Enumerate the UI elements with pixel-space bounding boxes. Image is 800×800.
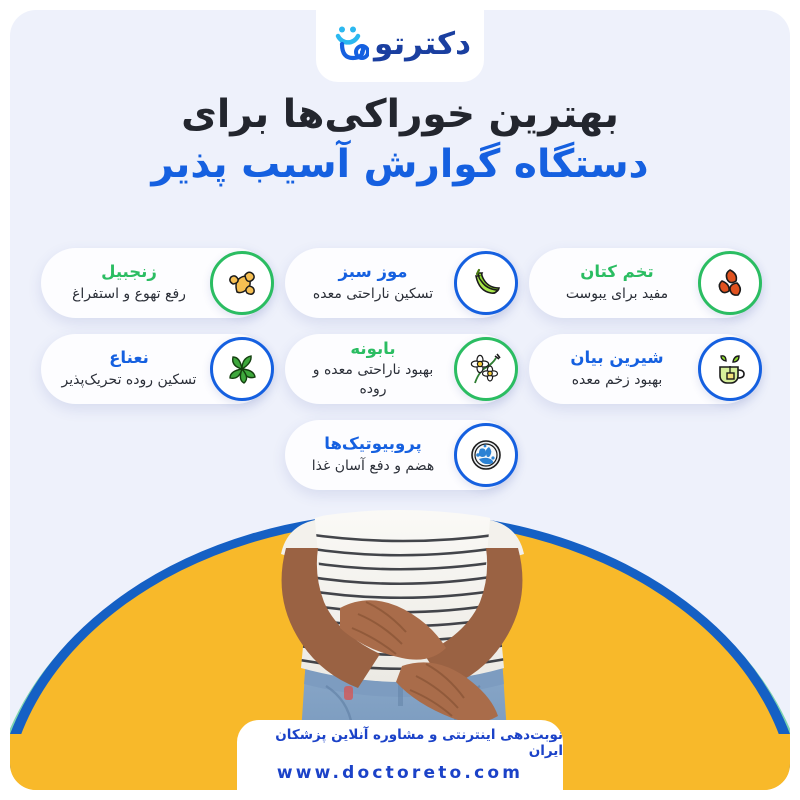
card-ginger[interactable]: زنجبیل رفع تهوع و استفراغ <box>41 248 271 318</box>
card-title: شیرین بیان <box>543 348 691 369</box>
chamomile-flower-icon <box>454 337 518 401</box>
flax-seeds-icon <box>698 251 762 315</box>
card-licorice[interactable]: شیرین بیان بهبود زخم معده <box>529 334 759 404</box>
card-subtitle: تسکین ناراحتی معده <box>299 285 447 304</box>
food-cards: تخم کتان مفید برای یبوست <box>10 248 790 506</box>
footer-website-url[interactable]: www.doctoreto.com <box>277 763 523 783</box>
footer-panel: نوبت‌دهی اینترنتی و مشاوره آنلاین پزشکان… <box>237 720 563 790</box>
card-title: پروبیوتیک‌ها <box>299 434 447 455</box>
stethoscope-icon <box>329 25 369 67</box>
card-subtitle: هضم و دفع آسان غذا <box>299 457 447 476</box>
mint-leaves-icon <box>210 337 274 401</box>
ginger-root-icon <box>210 251 274 315</box>
card-title: زنجبیل <box>55 262 203 283</box>
card-flax-seeds[interactable]: تخم کتان مفید برای یبوست <box>529 248 759 318</box>
card-subtitle: مفید برای یبوست <box>543 285 691 304</box>
card-green-banana[interactable]: موز سبز تسکین ناراحتی معده <box>285 248 515 318</box>
title-line-1: بهترین خوراکی‌ها برای <box>10 90 790 140</box>
card-subtitle: بهبود زخم معده <box>543 371 691 390</box>
card-probiotics[interactable]: پروبیوتیک‌ها هضم و دفع آسان غذا <box>285 420 515 490</box>
card-title: نعناع <box>55 348 203 369</box>
card-subtitle: بهبود ناراحتی معده و روده <box>299 361 447 399</box>
herbal-tea-cup-icon <box>698 337 762 401</box>
card-title: تخم کتان <box>543 262 691 283</box>
card-row-2: شیرین بیان بهبود زخم معده <box>10 334 790 404</box>
card-title: بابونه <box>299 339 447 360</box>
card-row-3: پروبیوتیک‌ها هضم و دفع آسان غذا <box>10 420 790 490</box>
brand-logo[interactable]: دکترتو <box>316 10 484 82</box>
title-line-2: دستگاه گوارش آسیب پذیر <box>10 140 790 190</box>
card-subtitle: رفع تهوع و استفراغ <box>55 285 203 304</box>
card-title: موز سبز <box>299 262 447 283</box>
probiotics-petri-dish-icon <box>454 423 518 487</box>
infographic-panel: نوبت‌دهی اینترنتی و مشاوره آنلاین پزشکان… <box>10 10 790 790</box>
page-title: بهترین خوراکی‌ها برای دستگاه گوارش آسیب … <box>10 90 790 190</box>
card-row-1: تخم کتان مفید برای یبوست <box>10 248 790 318</box>
card-mint[interactable]: نعناع تسکین روده تحریک‌پذیر <box>41 334 271 404</box>
green-banana-icon <box>454 251 518 315</box>
hero-photo-area: نوبت‌دهی اینترنتی و مشاوره آنلاین پزشکان… <box>10 490 790 790</box>
card-chamomile[interactable]: بابونه بهبود ناراحتی معده و روده <box>285 334 515 404</box>
brand-logo-text: دکترتو <box>374 29 471 63</box>
card-subtitle: تسکین روده تحریک‌پذیر <box>55 371 203 390</box>
footer-tagline: نوبت‌دهی اینترنتی و مشاوره آنلاین پزشکان… <box>237 727 563 759</box>
infographic-canvas: نوبت‌دهی اینترنتی و مشاوره آنلاین پزشکان… <box>0 0 800 800</box>
